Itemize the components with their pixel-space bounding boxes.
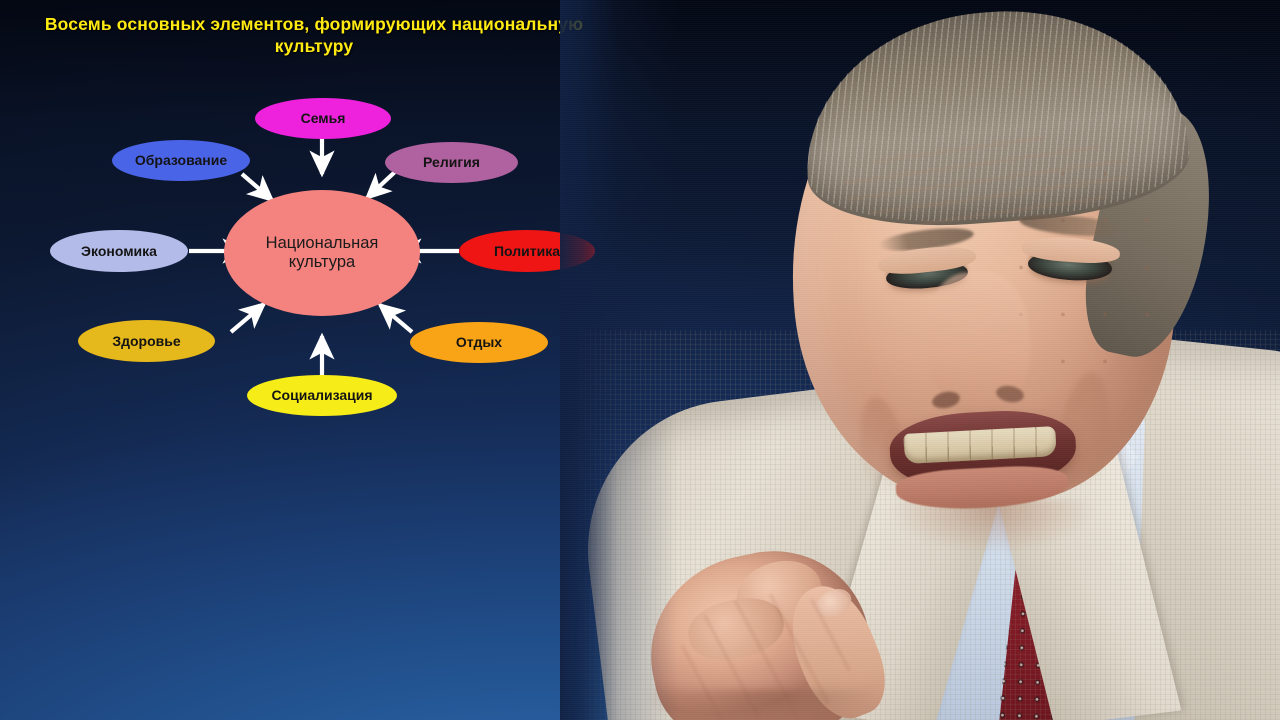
node-otdyh-label: Отдых [456, 335, 502, 350]
wrist-shadow [646, 690, 876, 720]
center-node-label-line1: Национальная [266, 234, 379, 252]
connector-obrazovanie [242, 174, 272, 200]
node-socializaciya-label: Социализация [271, 388, 372, 403]
culture-elements-diagram: Национальная культура Семья Религия Поли… [0, 70, 640, 440]
node-otdyh[interactable]: Отдых [410, 322, 548, 363]
node-semya-label: Семья [301, 111, 346, 126]
chin-shadow [892, 500, 1092, 552]
node-zdorove[interactable]: Здоровье [78, 320, 215, 362]
node-religiya-label: Религия [423, 155, 480, 170]
node-religiya[interactable]: Религия [385, 142, 518, 183]
node-obrazovanie-label: Образование [135, 153, 227, 168]
presenter-photo [560, 0, 1280, 720]
node-zdorove-label: Здоровье [112, 334, 180, 349]
node-obrazovanie[interactable]: Образование [112, 140, 250, 181]
connector-zdorove [231, 304, 264, 332]
connector-otdyh [380, 305, 412, 332]
node-semya[interactable]: Семья [255, 98, 391, 139]
node-politika-label: Политика [494, 244, 560, 259]
page-title: Восемь основных элементов, формирующих н… [14, 13, 614, 58]
connector-religiya [367, 170, 397, 198]
center-node-national-culture[interactable]: Национальная культура [224, 190, 420, 316]
node-ekonomika-label: Экономика [81, 244, 157, 259]
center-node-label-line2: культура [289, 253, 355, 271]
node-ekonomika[interactable]: Экономика [50, 230, 188, 272]
node-socializaciya[interactable]: Социализация [247, 375, 397, 416]
center-node-label: Национальная культура [266, 234, 379, 273]
slide-stage: Восемь основных элементов, формирующих н… [0, 0, 1280, 720]
